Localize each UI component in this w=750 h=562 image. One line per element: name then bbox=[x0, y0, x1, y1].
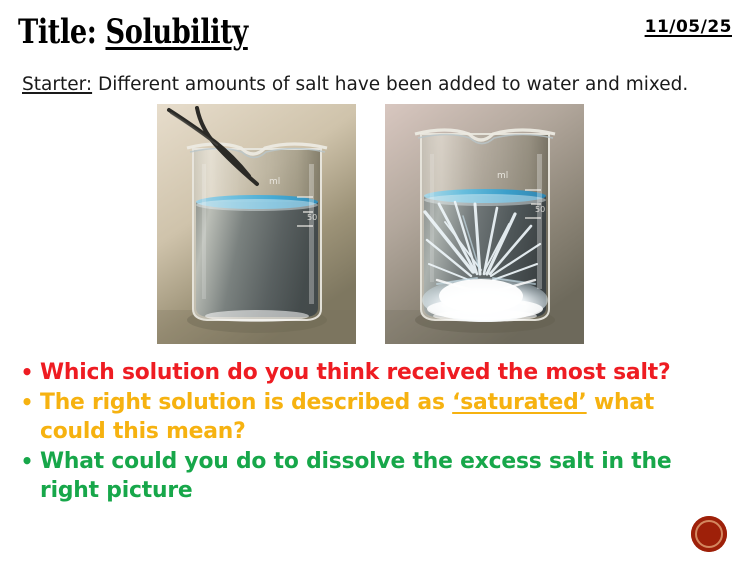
title-line: Title: Solubility bbox=[18, 12, 466, 52]
red-circle-badge[interactable] bbox=[691, 516, 727, 552]
bullet-dot-icon: • bbox=[14, 388, 40, 417]
svg-text:ml: ml bbox=[269, 177, 280, 187]
svg-text:ml: ml bbox=[497, 171, 508, 181]
starter-paragraph: Starter: Different amounts of salt have … bbox=[22, 72, 722, 98]
title-subject: Solubility bbox=[105, 12, 247, 52]
bullet-dot-icon: • bbox=[14, 358, 40, 387]
starter-body: Different amounts of salt have been adde… bbox=[92, 74, 688, 95]
list-item: • Which solution do you think received t… bbox=[14, 358, 730, 387]
bullet-dot-icon: • bbox=[14, 447, 40, 476]
question-bullet-list: • Which solution do you think received t… bbox=[14, 358, 730, 506]
bullet-segment: Which solution do you think received the… bbox=[40, 359, 670, 385]
slide-canvas: Title: Solubility 11/05/25 Starter: Diff… bbox=[0, 0, 750, 562]
bullet-segment: The right solution is described as bbox=[40, 389, 452, 415]
red-circle-badge-ring bbox=[695, 520, 723, 548]
beaker-saturated-photo: ml 50 bbox=[385, 104, 584, 344]
starter-label: Starter: bbox=[22, 74, 92, 95]
bullet-text: Which solution do you think received the… bbox=[40, 358, 709, 387]
beaker-unsaturated-photo: ml 50 bbox=[157, 104, 356, 344]
bullet-segment-highlight: ‘saturated’ bbox=[452, 389, 586, 415]
beaker-unsaturated-illustration: ml 50 bbox=[157, 104, 356, 344]
bullet-segment: What could you do to dissolve the excess… bbox=[40, 448, 671, 503]
lesson-date: 11/05/25 bbox=[645, 17, 732, 37]
list-item: • The right solution is described as ‘sa… bbox=[14, 388, 730, 446]
page-title: Title: Solubility bbox=[18, 12, 578, 60]
beaker-saturated-illustration: ml 50 bbox=[385, 104, 584, 344]
bullet-text: What could you do to dissolve the excess… bbox=[40, 447, 709, 505]
title-prefix: Title: bbox=[18, 12, 105, 52]
bullet-text: The right solution is described as ‘satu… bbox=[40, 388, 709, 446]
list-item: • What could you do to dissolve the exce… bbox=[14, 447, 730, 505]
